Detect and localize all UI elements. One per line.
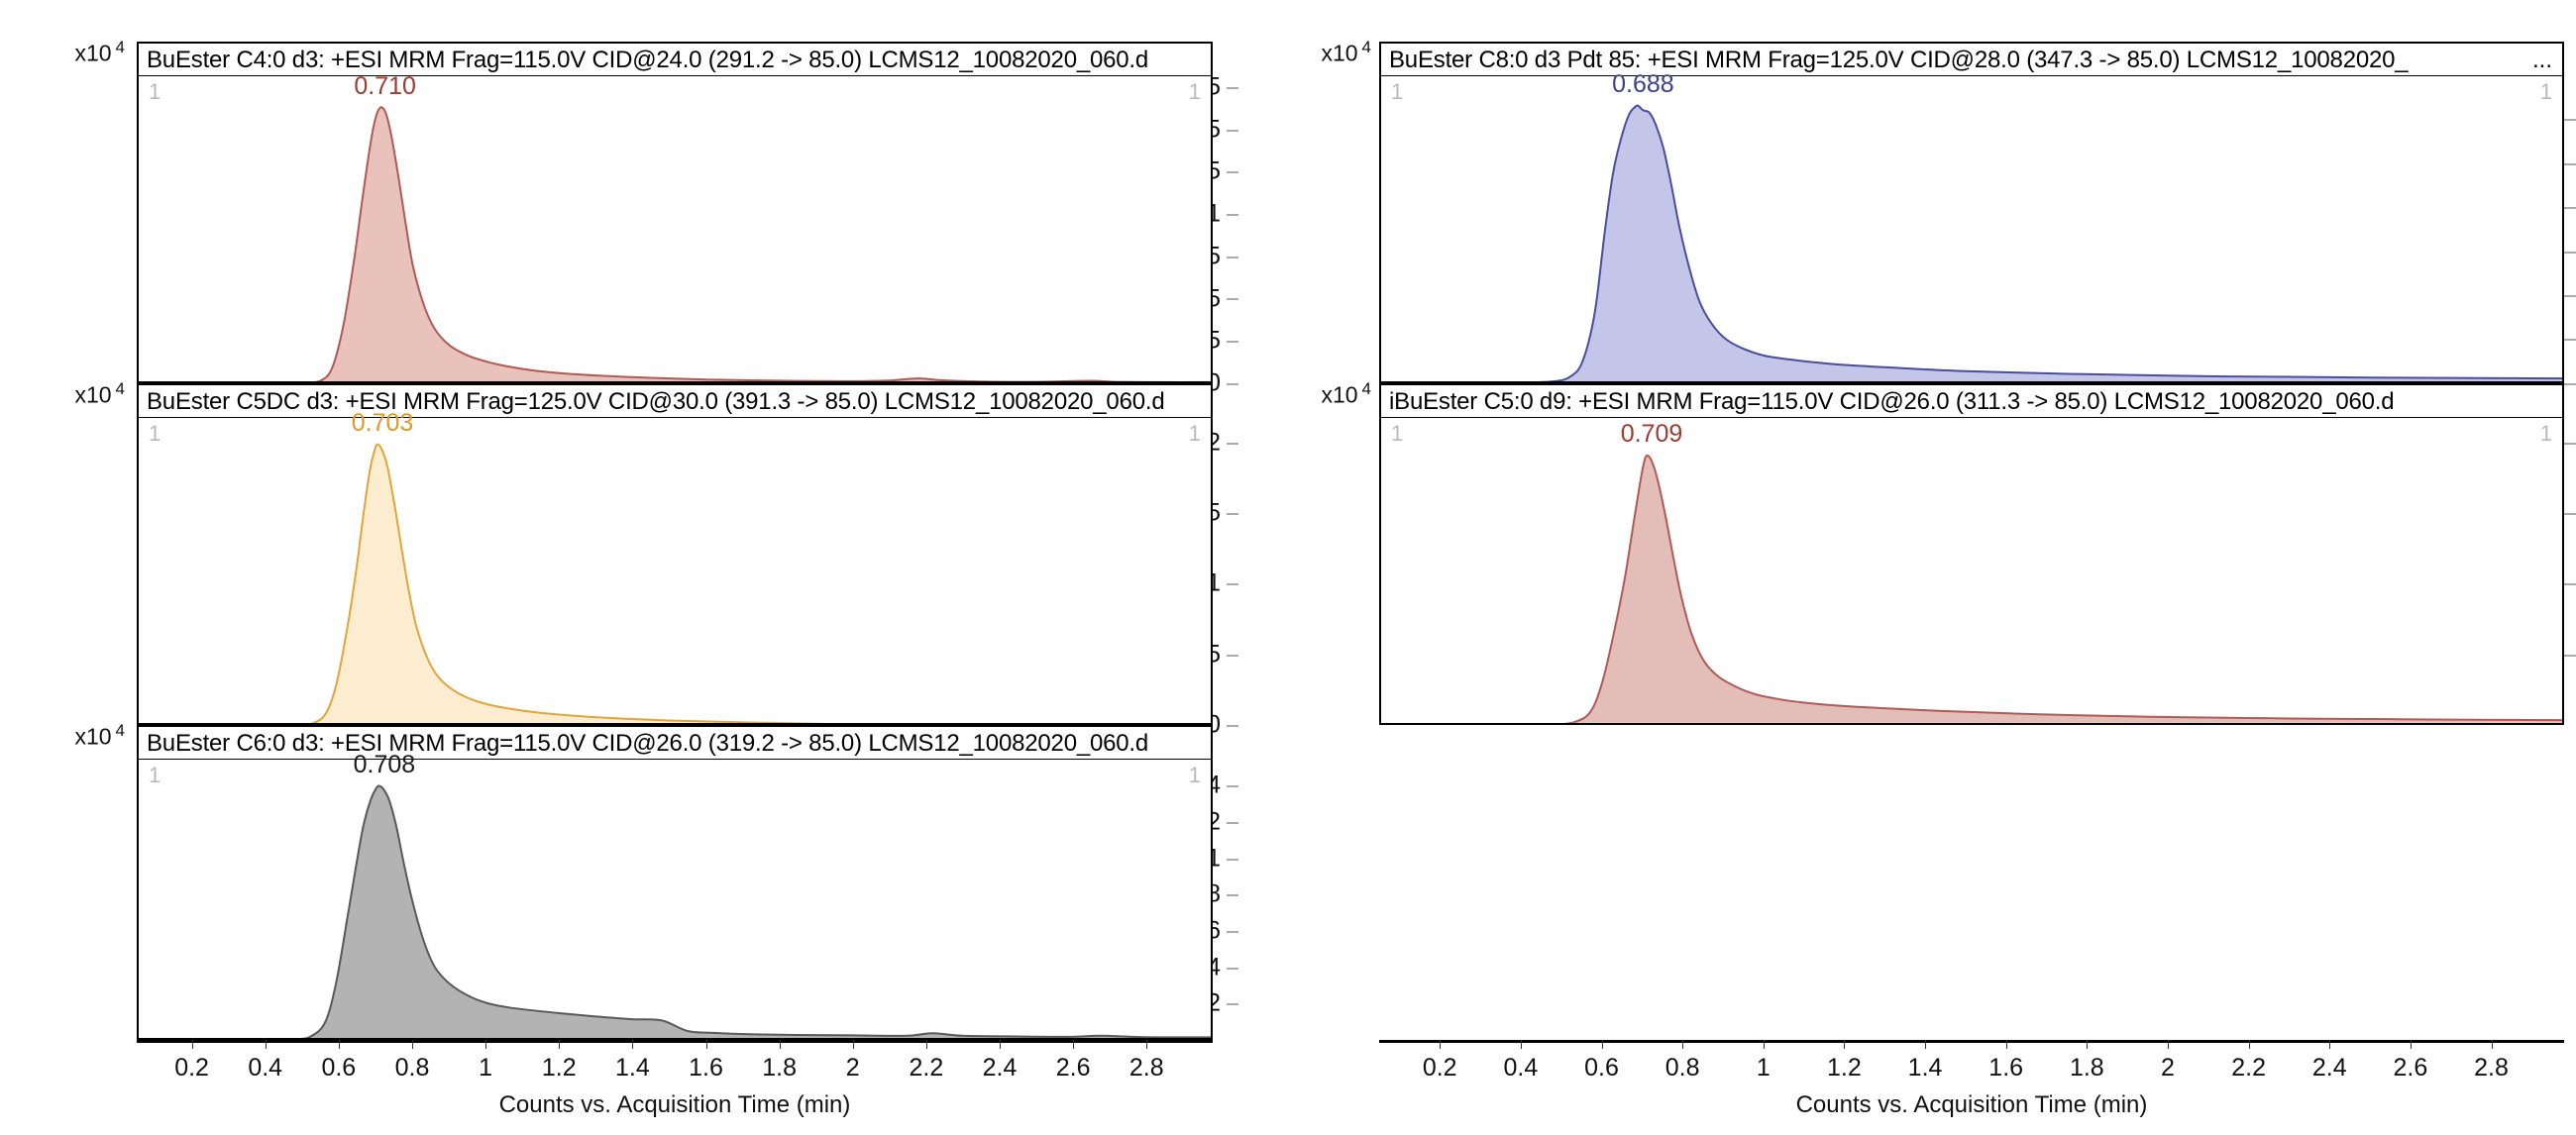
chromatogram-line: [139, 107, 1211, 383]
x-axis-tick-label: 2: [2161, 1054, 2175, 1083]
x-axis-tick-label: 2.4: [2312, 1054, 2347, 1083]
y-axis-tick-mark: [1227, 513, 1238, 514]
chromatogram-fill: [139, 107, 1211, 383]
chromatogram-panel[interactable]: BuEster C8:0 d3 Pdt 85: +ESI MRM Frag=12…: [1379, 42, 2564, 383]
x-axis-tick-label: 0.6: [1584, 1054, 1619, 1083]
x-axis-tick-label: 2.2: [910, 1054, 944, 1083]
x-axis-tick-mark: [266, 1040, 267, 1049]
x-axis-tick-mark: [339, 1040, 340, 1049]
x-axis-tick-label: 2.6: [2393, 1054, 2427, 1083]
title-separator: [139, 759, 1211, 760]
chromatogram-panel[interactable]: BuEster C4:0 d3: +ESI MRM Frag=115.0V CI…: [137, 42, 1213, 383]
title-separator: [139, 75, 1211, 76]
y-axis-tick-mark: [1227, 895, 1238, 896]
x-axis-tick-mark: [1000, 1040, 1001, 1049]
chromatogram-panel[interactable]: BuEster C6:0 d3: +ESI MRM Frag=115.0V CI…: [137, 725, 1213, 1040]
y-axis-exponent-power: 4: [1362, 38, 1371, 56]
x-axis-tick-mark: [1440, 1040, 1441, 1049]
y-axis-tick-mark: [2564, 383, 2576, 384]
x-axis-tick-label: 2: [846, 1054, 860, 1083]
panel-title: BuEster C8:0 d3 Pdt 85: +ESI MRM Frag=12…: [1389, 47, 2408, 74]
y-axis-tick-mark: [2564, 296, 2576, 297]
x-axis-tick-label: 1: [479, 1054, 492, 1083]
x-axis-tick-mark: [2492, 1040, 2493, 1049]
panel-title: BuEster C5DC d3: +ESI MRM Frag=125.0V CI…: [147, 388, 1164, 416]
x-axis-title: Counts vs. Acquisition Time (min): [137, 1091, 1213, 1119]
x-axis-tick-mark: [2168, 1040, 2169, 1049]
panel-title-ellipsis: ...: [2532, 47, 2552, 74]
y-axis-tick-mark: [2564, 443, 2576, 444]
chromatogram-line: [1381, 106, 2562, 383]
x-axis-tick-label: 2.4: [983, 1054, 1018, 1083]
y-axis-tick-mark: [1227, 859, 1238, 860]
x-axis-tick-label: 0.6: [321, 1054, 356, 1083]
x-axis-tick-label: 1.6: [689, 1054, 723, 1083]
peak-retention-time-label: 0.703: [352, 409, 414, 438]
y-axis-tick-mark: [2564, 584, 2576, 585]
chromatogram-fill: [139, 786, 1211, 1040]
y-axis-tick-mark: [1227, 87, 1238, 88]
x-axis-tick-mark: [1925, 1040, 1926, 1049]
panel-title: BuEster C6:0 d3: +ESI MRM Frag=115.0V CI…: [147, 730, 1148, 758]
x-axis-tick-mark: [926, 1040, 927, 1049]
y-axis-exponent-power: 4: [1362, 379, 1371, 398]
x-axis-tick-label: 2.2: [2231, 1054, 2266, 1083]
x-axis-tick-label: 0.2: [1423, 1054, 1457, 1083]
x-axis-tick-mark: [1844, 1040, 1845, 1049]
peak-retention-time-label: 0.688: [1612, 70, 1674, 99]
y-axis-exponent-base: x10: [74, 724, 111, 750]
y-axis-tick-mark: [2564, 513, 2576, 514]
y-axis-tick-mark: [2564, 340, 2576, 341]
x-axis-tick-mark: [412, 1040, 413, 1049]
x-axis-tick-label: 1.6: [1988, 1054, 2023, 1083]
x-axis-tick-label: 1.4: [1908, 1054, 1943, 1083]
y-axis-exponent: x104: [0, 379, 125, 409]
chromatogram-trace-svg: [1381, 77, 2562, 383]
y-axis-exponent-base: x10: [74, 382, 111, 408]
y-axis-tick-mark: [2564, 120, 2576, 121]
x-axis-line: [1379, 1040, 2564, 1043]
chromatogram-plot-area[interactable]: [1381, 419, 2562, 725]
x-axis-title: Counts vs. Acquisition Time (min): [1379, 1091, 2564, 1119]
x-axis-tick-mark: [1682, 1040, 1683, 1049]
y-axis-tick-mark: [1227, 725, 1238, 726]
y-axis-tick-mark: [2564, 163, 2576, 164]
x-axis-tick-mark: [632, 1040, 633, 1049]
y-axis-tick-mark: [1227, 823, 1238, 824]
chromatogram-plot-area[interactable]: [1381, 77, 2562, 383]
x-axis: 0.20.40.60.811.21.41.61.822.22.42.62.8Co…: [137, 1040, 1213, 1129]
x-axis: 0.20.40.60.811.21.41.61.822.22.42.62.8Co…: [1379, 1040, 2564, 1129]
x-axis-tick-mark: [780, 1040, 781, 1049]
x-axis-tick-mark: [2411, 1040, 2412, 1049]
chromatogram-trace-svg: [139, 761, 1211, 1040]
y-axis-tick-mark: [1227, 931, 1238, 932]
y-axis-exponent: x104: [1288, 38, 1371, 67]
panel-title: iBuEster C5:0 d9: +ESI MRM Frag=115.0V C…: [1389, 388, 2394, 416]
y-axis-tick-mark: [1227, 584, 1238, 585]
chromatogram-trace-svg: [1381, 419, 2562, 725]
chromatogram-fill: [1381, 456, 2562, 725]
chromatogram-line: [139, 445, 1211, 725]
y-axis-tick-mark: [1227, 786, 1238, 787]
x-axis-tick-label: 0.4: [248, 1054, 282, 1083]
x-axis-tick-label: 0.4: [1503, 1054, 1538, 1083]
x-axis-tick-mark: [1764, 1040, 1765, 1049]
x-axis-tick-mark: [2249, 1040, 2250, 1049]
y-axis-exponent: x104: [0, 38, 125, 67]
peak-retention-time-label: 0.709: [1621, 420, 1683, 449]
x-axis-tick-label: 2.8: [1129, 1054, 1164, 1083]
y-axis-tick-mark: [1227, 172, 1238, 173]
y-axis-tick-mark: [2564, 655, 2576, 656]
y-axis-tick-mark: [1227, 299, 1238, 300]
x-axis-tick-label: 0.8: [395, 1054, 430, 1083]
y-axis-tick-mark: [1227, 383, 1238, 384]
x-axis-tick-mark: [1602, 1040, 1603, 1049]
x-axis-tick-label: 1: [1757, 1054, 1771, 1083]
y-axis-tick-mark: [2564, 252, 2576, 253]
x-axis-tick-label: 1.8: [762, 1054, 797, 1083]
y-axis-exponent-base: x10: [1321, 41, 1357, 66]
chromatogram-panel[interactable]: iBuEster C5:0 d9: +ESI MRM Frag=115.0V C…: [1379, 383, 2564, 725]
title-separator: [139, 417, 1211, 418]
peak-retention-time-label: 0.710: [354, 72, 416, 101]
y-axis-tick-mark: [1227, 130, 1238, 131]
y-axis-tick-mark: [1227, 968, 1238, 969]
x-axis-tick-mark: [1073, 1040, 1074, 1049]
x-axis-tick-label: 0.2: [174, 1054, 209, 1083]
y-axis-exponent: x104: [0, 721, 125, 751]
y-axis-tick-mark: [1227, 215, 1238, 216]
x-axis-tick-mark: [2006, 1040, 2007, 1049]
y-axis-exponent: x104: [1288, 379, 1371, 409]
x-axis-tick-mark: [2087, 1040, 2088, 1049]
chromatogram-plot-area[interactable]: [139, 419, 1211, 725]
y-axis-tick-mark: [1227, 257, 1238, 258]
x-axis-tick-label: 2.6: [1056, 1054, 1091, 1083]
x-axis-tick-mark: [559, 1040, 560, 1049]
x-axis-tick-mark: [706, 1040, 707, 1049]
chromatogram-plot-area[interactable]: [139, 77, 1211, 383]
x-axis-tick-mark: [1146, 1040, 1147, 1049]
y-axis-tick-mark: [2564, 208, 2576, 209]
chromatogram-panel[interactable]: BuEster C5DC d3: +ESI MRM Frag=125.0V CI…: [137, 383, 1213, 725]
x-axis-tick-label: 1.2: [542, 1054, 577, 1083]
x-axis-tick-label: 2.8: [2474, 1054, 2509, 1083]
y-axis-tick-mark: [1227, 1004, 1238, 1005]
chromatogram-fill: [1381, 106, 2562, 383]
chromatogram-trace-svg: [139, 77, 1211, 383]
y-axis-tick-mark: [1227, 655, 1238, 656]
x-axis-tick-mark: [2329, 1040, 2330, 1049]
x-axis-tick-mark: [485, 1040, 486, 1049]
y-axis-exponent-power: 4: [116, 721, 125, 740]
x-axis-tick-label: 1.4: [615, 1054, 650, 1083]
panel-title: BuEster C4:0 d3: +ESI MRM Frag=115.0V CI…: [147, 47, 1148, 74]
x-axis-tick-mark: [192, 1040, 193, 1049]
y-axis-exponent-base: x10: [1321, 382, 1357, 408]
y-axis-exponent-power: 4: [116, 38, 125, 56]
x-axis-tick-label: 0.8: [1665, 1054, 1700, 1083]
x-axis-line: [137, 1040, 1213, 1043]
title-separator: [1381, 417, 2562, 418]
x-axis-tick-mark: [853, 1040, 854, 1049]
y-axis-exponent-base: x10: [74, 41, 111, 66]
y-axis-tick-mark: [1227, 443, 1238, 444]
chromatogram-trace-svg: [139, 419, 1211, 725]
chromatogram-plot-area[interactable]: [139, 761, 1211, 1040]
chromatogram-fill: [139, 445, 1211, 725]
title-separator: [1381, 75, 2562, 76]
x-axis-tick-label: 1.8: [2070, 1054, 2104, 1083]
x-axis-tick-mark: [1521, 1040, 1522, 1049]
peak-retention-time-label: 0.708: [354, 751, 416, 779]
y-axis-exponent-power: 4: [116, 379, 125, 398]
x-axis-tick-label: 1.2: [1827, 1054, 1862, 1083]
chromatogram-line: [139, 786, 1211, 1040]
chromatogram-line: [1381, 456, 2562, 725]
y-axis-tick-mark: [1227, 342, 1238, 343]
